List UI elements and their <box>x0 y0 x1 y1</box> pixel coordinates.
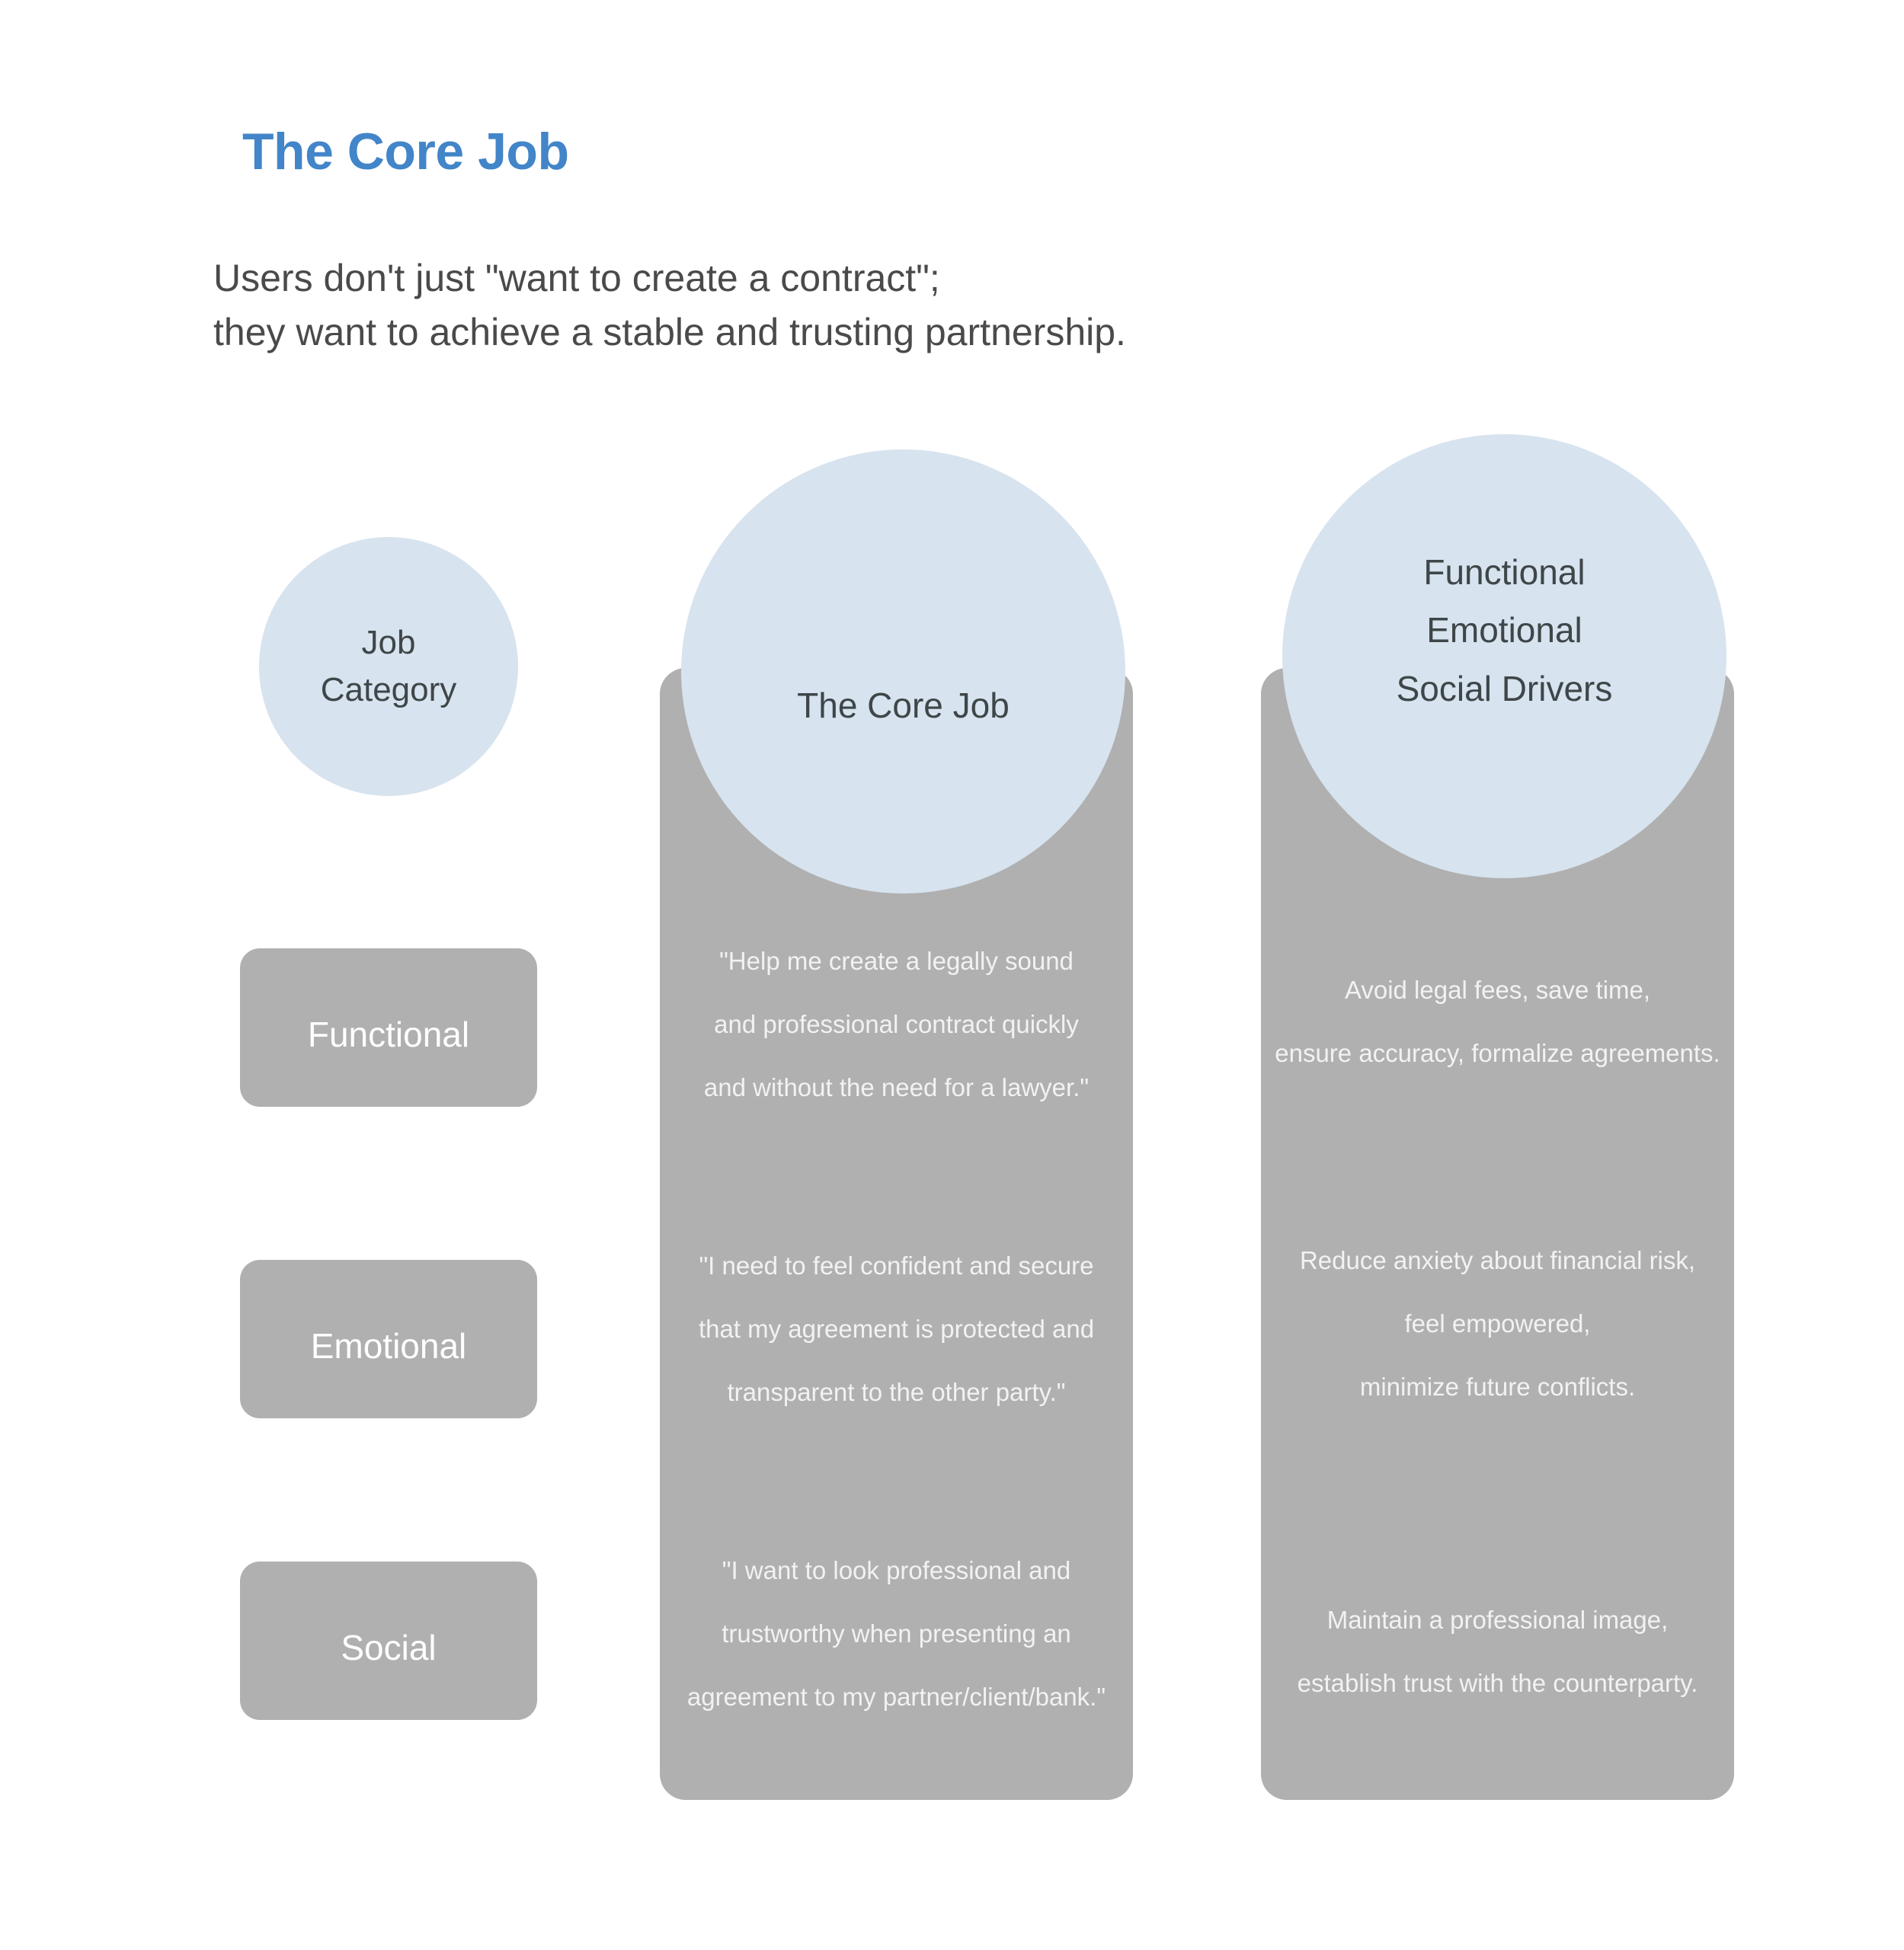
job-category-circle: Job Category <box>259 537 518 796</box>
drivers-circle-label: Functional Emotional Social Drivers <box>1397 543 1613 718</box>
core-job-block-social-line-3: agreement to my partner/client/bank." <box>660 1665 1133 1728</box>
page-subtitle-line-1: Users don't just "want to create a contr… <box>213 251 1126 305</box>
category-chip-social-label: Social <box>341 1627 436 1668</box>
slide-canvas: The Core Job Users don't just "want to c… <box>0 0 1904 1950</box>
drivers-circle-line-2: Emotional <box>1397 601 1613 659</box>
core-job-block-social-line-2: trustworthy when presenting an <box>660 1602 1133 1665</box>
drivers-block-functional-line-1: Avoid legal fees, save time, <box>1261 958 1734 1021</box>
page-subtitle-line-2: they want to achieve a stable and trusti… <box>213 305 1126 360</box>
category-chip-social[interactable]: Social <box>240 1562 537 1720</box>
job-category-circle-line-1: Job <box>321 619 457 667</box>
category-chip-emotional-label: Emotional <box>311 1325 467 1367</box>
category-chip-functional-label: Functional <box>308 1014 469 1055</box>
core-job-block-social-line-1: "I want to look professional and <box>660 1539 1133 1602</box>
core-job-block-emotional-line-3: transparent to the other party." <box>660 1360 1133 1424</box>
drivers-block-emotional-line-2: feel empowered, <box>1261 1292 1734 1355</box>
core-job-block-emotional: "I need to feel confident and secure tha… <box>660 1234 1133 1424</box>
core-job-block-emotional-line-1: "I need to feel confident and secure <box>660 1234 1133 1297</box>
drivers-block-functional: Avoid legal fees, save time, ensure accu… <box>1261 958 1734 1085</box>
core-job-block-functional-line-2: and professional contract quickly <box>660 993 1133 1056</box>
drivers-block-emotional-line-1: Reduce anxiety about financial risk, <box>1261 1229 1734 1292</box>
drivers-circle-line-3: Social Drivers <box>1397 660 1613 718</box>
job-category-circle-label: Job Category <box>321 619 457 714</box>
core-job-circle: The Core Job <box>681 449 1125 893</box>
core-job-block-social: "I want to look professional and trustwo… <box>660 1539 1133 1728</box>
core-job-block-functional-line-3: and without the need for a lawyer." <box>660 1056 1133 1119</box>
drivers-block-social-line-1: Maintain a professional image, <box>1261 1588 1734 1651</box>
drivers-block-emotional: Reduce anxiety about financial risk, fee… <box>1261 1229 1734 1418</box>
job-category-circle-line-2: Category <box>321 667 457 714</box>
core-job-circle-line-1: The Core Job <box>797 681 1010 730</box>
drivers-block-social-line-2: establish trust with the counterparty. <box>1261 1651 1734 1715</box>
page-title: The Core Job <box>242 122 569 181</box>
drivers-block-functional-line-2: ensure accuracy, formalize agreements. <box>1261 1021 1734 1085</box>
drivers-block-social: Maintain a professional image, establish… <box>1261 1588 1734 1715</box>
drivers-circle-line-1: Functional <box>1397 543 1613 601</box>
core-job-block-functional-line-1: "Help me create a legally sound <box>660 929 1133 993</box>
core-job-block-functional: "Help me create a legally sound and prof… <box>660 929 1133 1119</box>
page-subtitle: Users don't just "want to create a contr… <box>213 251 1126 360</box>
core-job-block-emotional-line-2: that my agreement is protected and <box>660 1297 1133 1360</box>
core-job-circle-label: The Core Job <box>797 681 1010 730</box>
category-chip-emotional[interactable]: Emotional <box>240 1260 537 1418</box>
drivers-block-emotional-line-3: minimize future conflicts. <box>1261 1355 1734 1418</box>
drivers-circle: Functional Emotional Social Drivers <box>1282 434 1726 878</box>
category-chip-functional[interactable]: Functional <box>240 948 537 1107</box>
